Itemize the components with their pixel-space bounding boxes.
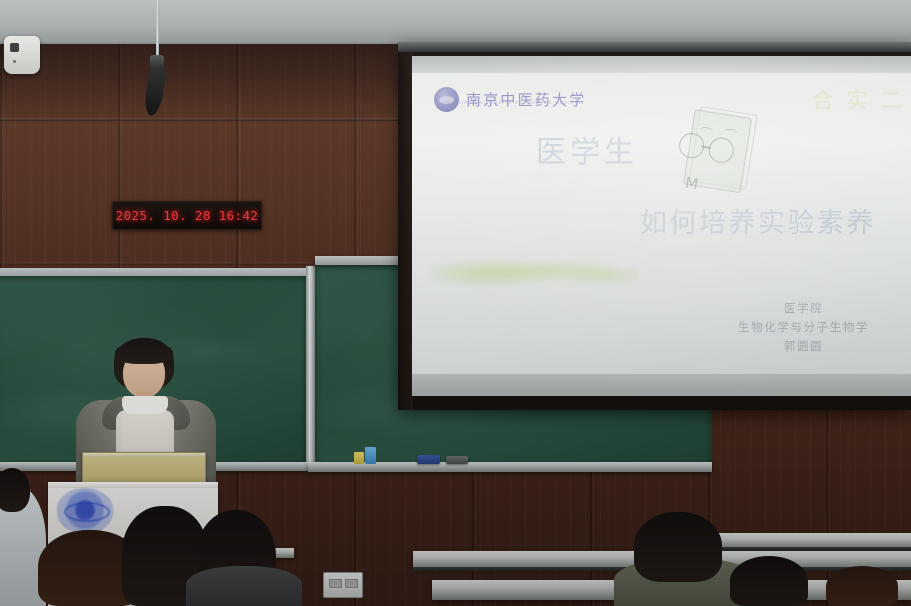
laptop-screen-edge — [83, 453, 205, 457]
chalk-box-blue — [365, 447, 376, 464]
slide-title-main: 医学生 — [536, 127, 638, 171]
blackboard-divider — [306, 266, 315, 470]
slide-corner-decoration: 合 实 二 — [812, 83, 905, 115]
mascot-mouth: M — [684, 176, 699, 193]
screen-top-band — [412, 56, 911, 73]
presenter-fringe — [115, 342, 173, 364]
byline-department: 医学院 — [738, 299, 869, 318]
student-head — [730, 556, 808, 606]
student-head — [0, 468, 30, 512]
eraser-grey — [446, 456, 468, 464]
device-lens-icon — [10, 43, 19, 52]
podium-top-lip — [48, 482, 218, 488]
device-led-icon — [13, 60, 16, 63]
slide-title-sub: 如何培养实验素养 — [640, 201, 876, 240]
wall-trim-line-upper — [0, 118, 398, 121]
switch-rocker-left[interactable] — [329, 579, 342, 588]
university-crest-emblem — [56, 488, 114, 534]
microphone-pole — [156, 0, 159, 58]
byline-program: 生物化学与分子生物学 — [738, 318, 869, 337]
student-shoulders — [186, 566, 302, 606]
presenter-laptop — [82, 452, 206, 486]
slide-presenter-byline: 医学院 生物化学与分子生物学 郭圆圆 — [738, 299, 869, 356]
slide-watercolor-decoration — [428, 255, 638, 291]
screen-bottom-band — [412, 374, 911, 396]
university-name-en: NANJING UNIVERSITY OF CHINESE MEDICINE — [446, 100, 585, 105]
wall-light-switch[interactable] — [323, 572, 363, 598]
student-head — [634, 512, 722, 582]
byline-presenter-name: 郭圆圆 — [738, 337, 869, 356]
led-wall-clock: 2025. 10. 28 16:42 — [112, 201, 262, 230]
presentation-slide: 南京中医药大学 NANJING UNIVERSITY OF CHINESE ME… — [412, 73, 911, 374]
projection-screen-left-edge — [398, 44, 413, 410]
mascot-lens-right — [707, 136, 736, 165]
clock-display-text: 2025. 10. 28 16:42 — [116, 208, 259, 223]
book-mascot-icon: M — [667, 101, 765, 209]
wall-mounted-speaker-unit — [4, 36, 40, 74]
switch-rocker-right[interactable] — [345, 579, 358, 588]
lecture-hall-scene: 2025. 10. 28 16:42 南京中医药大学 NANJING UNIVE… — [0, 0, 911, 606]
projection-screen-surface: 南京中医药大学 NANJING UNIVERSITY OF CHINESE ME… — [412, 56, 911, 396]
eraser-blue — [417, 455, 440, 464]
projection-screen-roller — [398, 42, 911, 52]
chalk-box-yellow — [354, 452, 364, 464]
student-head — [826, 566, 898, 606]
